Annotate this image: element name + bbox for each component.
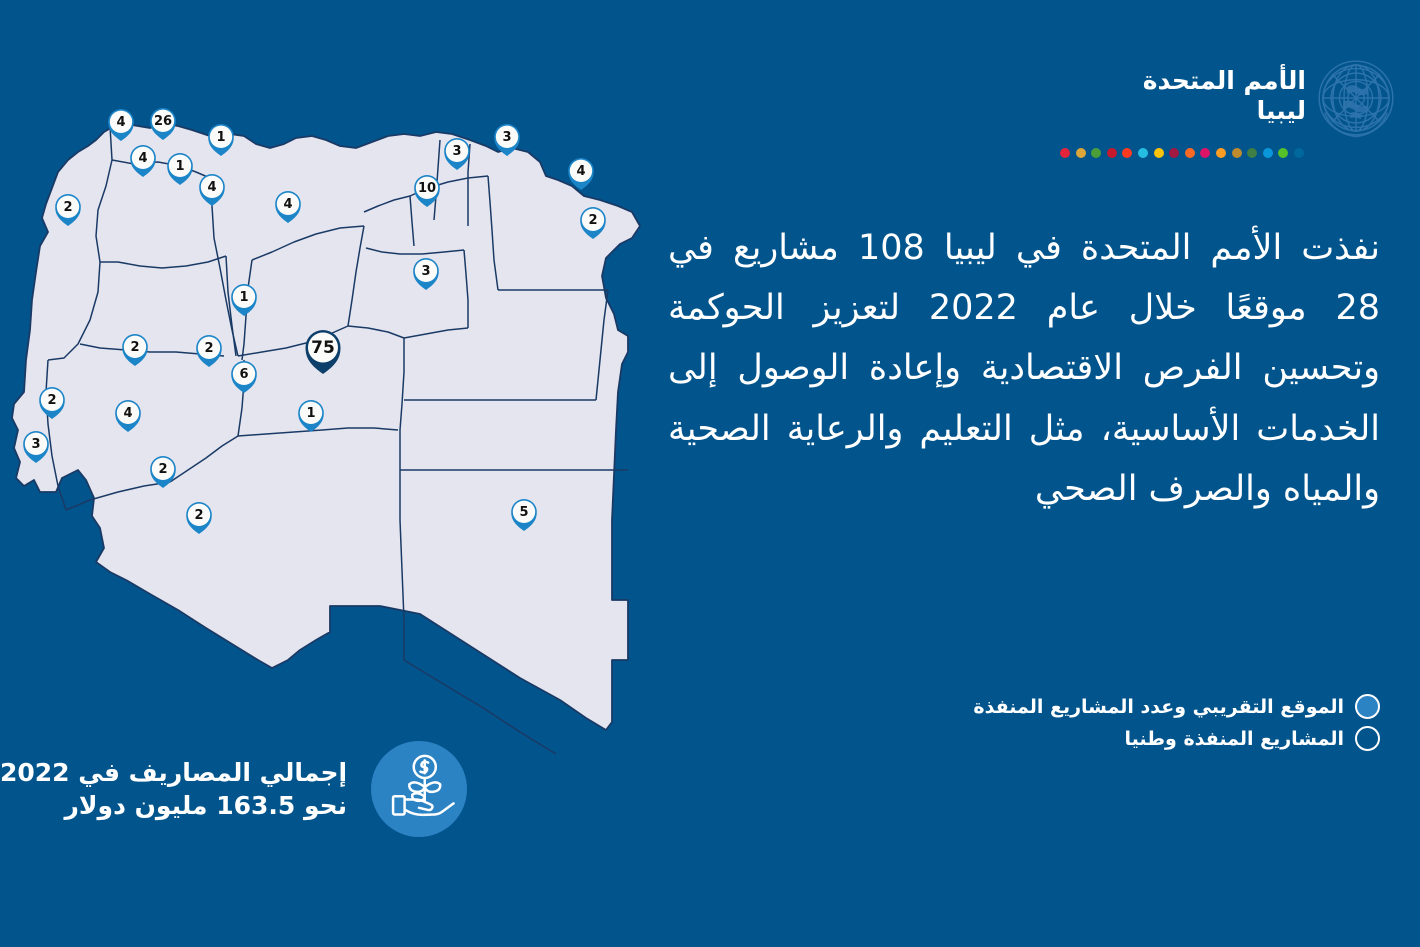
sdg-dot-13	[1247, 148, 1257, 158]
sdg-dot-5	[1122, 148, 1132, 158]
pin-count-label: 4	[123, 406, 132, 421]
pin-count-label: 1	[216, 130, 225, 145]
pin-count-label: 5	[519, 505, 528, 520]
sdg-dot-12	[1232, 148, 1242, 158]
map-landmass	[12, 124, 640, 730]
filled-circle-icon	[1355, 694, 1380, 719]
expenditure-text: إجمالي المصاريف في 2022 نحو 163.5 مليون …	[0, 756, 347, 822]
sdg-dot-9	[1185, 148, 1195, 158]
legend-label-locations: الموقع التقريبي وعدد المشاريع المنفذة	[973, 696, 1344, 718]
pin-count-label: 4	[116, 115, 125, 130]
sdg-dot-15	[1278, 148, 1288, 158]
header: الأمم المتحدة ليبيا	[982, 52, 1402, 172]
sdg-dot-14	[1263, 148, 1273, 158]
infographic-root: 42614142410334231226752413225 الأمم المت…	[0, 0, 1420, 947]
map-svg: 42614142410334231226752413225	[0, 0, 680, 760]
pin-count-label: 1	[239, 290, 248, 305]
outline-circle-icon	[1355, 726, 1380, 751]
un-wordmark-line1: الأمم المتحدة	[1143, 66, 1306, 96]
landmass-fill	[12, 124, 640, 730]
pin-count-label: 4	[576, 164, 585, 179]
pin-count-label: 10	[418, 181, 436, 196]
expenditure-block: إجمالي المصاريف في 2022 نحو 163.5 مليون …	[0, 733, 470, 845]
pin-count-label: 6	[239, 367, 248, 382]
sdg-dot-1	[1060, 148, 1070, 158]
sdg-dot-strip	[1060, 148, 1304, 158]
legend-item-locations: الموقع التقريبي وعدد المشاريع المنفذة	[860, 694, 1380, 719]
pin-count-label: 2	[158, 462, 167, 477]
hand-holding-money-plant-icon	[371, 741, 467, 837]
pin-count-label: 2	[130, 340, 139, 355]
pin-count-label: 2	[204, 341, 213, 356]
un-wordmark: الأمم المتحدة ليبيا	[1143, 66, 1306, 125]
expenditure-line1: إجمالي المصاريف في 2022	[0, 756, 347, 789]
pin-count-label: 4	[138, 151, 147, 166]
sdg-dot-11	[1216, 148, 1226, 158]
legend-item-national: المشاريع المنفذة وطنيا	[860, 726, 1380, 751]
pin-count-label: 1	[306, 406, 315, 421]
expenditure-line2: نحو 163.5 مليون دولار	[0, 789, 347, 822]
sdg-dot-7	[1154, 148, 1164, 158]
pin-count-label: 2	[588, 213, 597, 228]
sdg-dot-6	[1138, 148, 1148, 158]
un-emblem-icon	[1310, 52, 1402, 144]
pin-count-label: 3	[502, 130, 511, 145]
sdg-dot-3	[1091, 148, 1101, 158]
pin-count-label: 2	[63, 200, 72, 215]
sdg-dot-10	[1200, 148, 1210, 158]
pin-count-label: 2	[47, 393, 56, 408]
pin-count-label: 3	[31, 437, 40, 452]
legend-label-national: المشاريع المنفذة وطنيا	[1125, 728, 1345, 750]
sdg-dot-4	[1107, 148, 1117, 158]
pin-count-label: 2	[194, 508, 203, 523]
pin-count-label: 75	[311, 338, 335, 358]
map-legend: الموقع التقريبي وعدد المشاريع المنفذة ال…	[860, 694, 1380, 758]
sdg-dot-16	[1294, 148, 1304, 158]
sdg-dot-2	[1076, 148, 1086, 158]
pin-count-label: 3	[452, 144, 461, 159]
main-paragraph: نفذت الأمم المتحدة في ليبيا 108 مشاريع ف…	[668, 218, 1380, 519]
pin-count-label: 26	[154, 114, 172, 129]
icon-background	[371, 741, 467, 837]
pin-count-label: 4	[207, 180, 216, 195]
pin-count-label: 4	[283, 197, 292, 212]
pin-count-label: 3	[421, 264, 430, 279]
pin-count-label: 1	[175, 159, 184, 174]
sdg-dot-8	[1169, 148, 1179, 158]
libya-map: 42614142410334231226752413225	[0, 0, 680, 760]
un-wordmark-line2: ليبيا	[1143, 96, 1306, 126]
